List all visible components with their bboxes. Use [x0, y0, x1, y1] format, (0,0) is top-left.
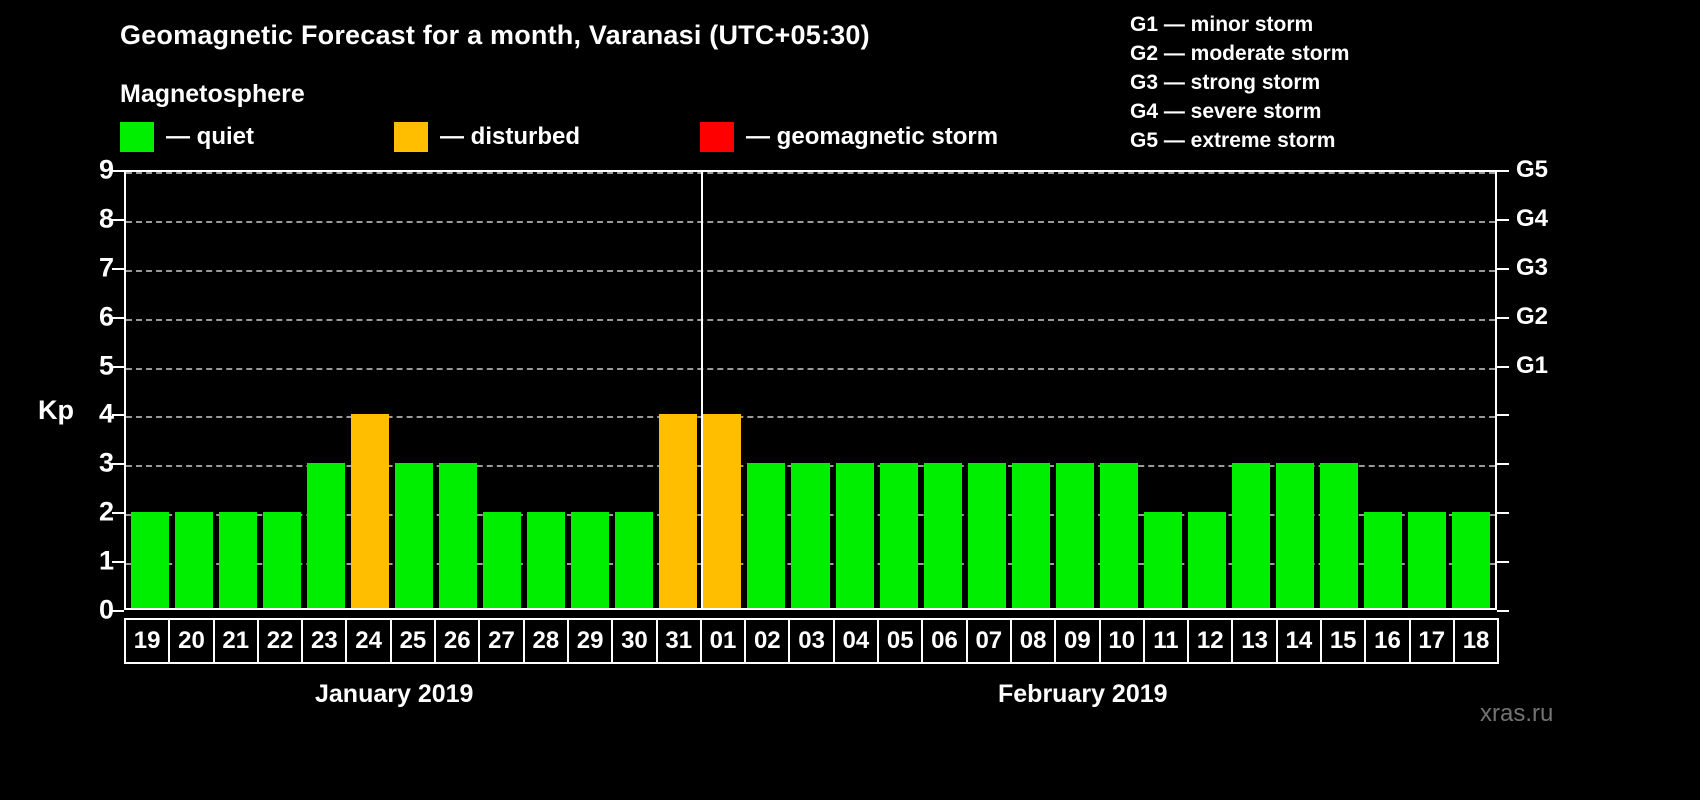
- y-tick-label-7: 7: [74, 252, 114, 283]
- bar-cell: [436, 172, 480, 608]
- bar-day-16: [1364, 512, 1402, 608]
- day-label-25: 25: [390, 618, 436, 664]
- bar-day-03: [791, 463, 829, 608]
- y-tick-label-2: 2: [74, 497, 114, 528]
- day-label-11: 11: [1143, 618, 1189, 664]
- right-axis-label-g5: G5: [1516, 156, 1548, 184]
- day-label-07: 07: [966, 618, 1012, 664]
- bar-day-30: [615, 512, 653, 608]
- y-tick-label-6: 6: [74, 301, 114, 332]
- month-label-january: January 2019: [315, 680, 473, 709]
- day-label-15: 15: [1320, 618, 1366, 664]
- bar-day-15: [1320, 463, 1358, 608]
- bar-day-28: [527, 512, 565, 608]
- bar-cell: [1405, 172, 1449, 608]
- bar-day-26: [439, 463, 477, 608]
- day-label-23: 23: [301, 618, 347, 664]
- bar-cell: [1449, 172, 1493, 608]
- bar-day-25: [395, 463, 433, 608]
- bar-cell: [877, 172, 921, 608]
- storm-scale-row-g3: G3 — strong storm: [1130, 68, 1349, 97]
- bar-cell: [172, 172, 216, 608]
- bar-cell: [1273, 172, 1317, 608]
- y-tick-label-3: 3: [74, 448, 114, 479]
- day-label-30: 30: [611, 618, 657, 664]
- day-label-16: 16: [1364, 618, 1410, 664]
- bar-cell: [348, 172, 392, 608]
- bar-day-12: [1188, 512, 1226, 608]
- y-tick-label-4: 4: [74, 399, 114, 430]
- bar-cell: [1009, 172, 1053, 608]
- day-label-18: 18: [1453, 618, 1499, 664]
- bar-cell: [788, 172, 832, 608]
- legend-label-quiet: — quiet: [166, 123, 254, 151]
- right-tick-kp-5: [1497, 366, 1509, 368]
- bar-cell: [392, 172, 436, 608]
- day-label-26: 26: [434, 618, 480, 664]
- bar-day-21: [219, 512, 257, 608]
- bar-day-23: [307, 463, 345, 608]
- bar-day-06: [924, 463, 962, 608]
- right-tick-kp-2: [1497, 512, 1509, 514]
- bar-cell: [480, 172, 524, 608]
- bar-day-01: [703, 414, 741, 608]
- day-label-12: 12: [1187, 618, 1233, 664]
- y-tick-label-8: 8: [74, 203, 114, 234]
- day-label-10: 10: [1099, 618, 1145, 664]
- bar-cell: [1229, 172, 1273, 608]
- bar-cell: [216, 172, 260, 608]
- bar-cell: [921, 172, 965, 608]
- watermark: xras.ru: [1480, 700, 1553, 728]
- bar-day-07: [968, 463, 1006, 608]
- day-label-27: 27: [478, 618, 524, 664]
- bar-day-18: [1452, 512, 1490, 608]
- day-label-22: 22: [257, 618, 303, 664]
- bar-day-19: [131, 512, 169, 608]
- bar-cell: [1097, 172, 1141, 608]
- legend-label-disturbed: — disturbed: [440, 123, 580, 151]
- legend-item-disturbed: — disturbed: [394, 122, 580, 152]
- legend-item-quiet: — quiet: [120, 122, 254, 152]
- bar-day-24: [351, 414, 389, 608]
- bar-day-05: [880, 463, 918, 608]
- magnetosphere-heading: Magnetosphere: [120, 80, 305, 109]
- day-label-05: 05: [877, 618, 923, 664]
- day-axis: 1920212223242526272829303101020304050607…: [124, 618, 1497, 664]
- bar-day-20: [175, 512, 213, 608]
- legend-swatch-disturbed: [394, 122, 428, 152]
- day-label-02: 02: [744, 618, 790, 664]
- day-label-04: 04: [833, 618, 879, 664]
- day-label-06: 06: [921, 618, 967, 664]
- day-label-09: 09: [1054, 618, 1100, 664]
- bar-cell: [1361, 172, 1405, 608]
- bar-day-04: [836, 463, 874, 608]
- day-label-29: 29: [567, 618, 613, 664]
- right-tick-kp-8: [1497, 219, 1509, 221]
- bar-cell: [260, 172, 304, 608]
- bar-day-17: [1408, 512, 1446, 608]
- day-label-21: 21: [213, 618, 259, 664]
- day-label-20: 20: [168, 618, 214, 664]
- bar-day-13: [1232, 463, 1270, 608]
- y-tick-label-1: 1: [74, 546, 114, 577]
- right-tick-kp-4: [1497, 414, 1509, 416]
- page-title: Geomagnetic Forecast for a month, Varana…: [120, 20, 870, 51]
- bar-series: [126, 172, 1495, 608]
- right-tick-kp-0: [1497, 610, 1509, 612]
- bar-day-11: [1144, 512, 1182, 608]
- day-label-28: 28: [523, 618, 569, 664]
- day-label-13: 13: [1231, 618, 1277, 664]
- chart-plot-area: [124, 170, 1497, 610]
- day-label-14: 14: [1276, 618, 1322, 664]
- bar-day-22: [263, 512, 301, 608]
- day-label-03: 03: [788, 618, 834, 664]
- right-axis-label-g4: G4: [1516, 205, 1548, 233]
- legend: — quiet— disturbed— geomagnetic storm: [120, 122, 998, 152]
- bar-day-14: [1276, 463, 1314, 608]
- legend-item-storm: — geomagnetic storm: [700, 122, 998, 152]
- day-label-01: 01: [700, 618, 746, 664]
- storm-scale-row-g4: G4 — severe storm: [1130, 97, 1349, 126]
- bar-cell: [1185, 172, 1229, 608]
- bar-day-31: [659, 414, 697, 608]
- y-tick-label-5: 5: [74, 350, 114, 381]
- storm-scale-row-g2: G2 — moderate storm: [1130, 39, 1349, 68]
- bar-day-29: [571, 512, 609, 608]
- bar-day-10: [1100, 463, 1138, 608]
- storm-scale-row-g5: G5 — extreme storm: [1130, 126, 1349, 155]
- legend-swatch-quiet: [120, 122, 154, 152]
- bar-cell: [1141, 172, 1185, 608]
- bar-cell: [700, 172, 744, 608]
- y-axis-label: Kp: [38, 395, 74, 426]
- right-tick-kp-6: [1497, 317, 1509, 319]
- right-tick-kp-7: [1497, 268, 1509, 270]
- legend-swatch-storm: [700, 122, 734, 152]
- storm-scale-legend: G1 — minor stormG2 — moderate stormG3 — …: [1130, 10, 1349, 155]
- bar-day-27: [483, 512, 521, 608]
- y-tick-label-9: 9: [74, 155, 114, 186]
- right-tick-kp-9: [1497, 170, 1509, 172]
- storm-scale-row-g1: G1 — minor storm: [1130, 10, 1349, 39]
- y-tick-label-0: 0: [74, 595, 114, 626]
- bar-cell: [1317, 172, 1361, 608]
- right-axis-label-g2: G2: [1516, 303, 1548, 331]
- bar-cell: [744, 172, 788, 608]
- right-axis-label-g1: G1: [1516, 352, 1548, 380]
- bar-day-09: [1056, 463, 1094, 608]
- bar-day-02: [747, 463, 785, 608]
- month-label-february: February 2019: [998, 680, 1168, 709]
- bar-cell: [612, 172, 656, 608]
- bar-cell: [656, 172, 700, 608]
- day-label-24: 24: [345, 618, 391, 664]
- day-label-08: 08: [1010, 618, 1056, 664]
- bar-cell: [568, 172, 612, 608]
- right-tick-kp-1: [1497, 561, 1509, 563]
- bar-cell: [524, 172, 568, 608]
- bar-cell: [833, 172, 877, 608]
- right-tick-kp-3: [1497, 463, 1509, 465]
- right-axis-label-g3: G3: [1516, 254, 1548, 282]
- day-label-17: 17: [1409, 618, 1455, 664]
- bar-cell: [965, 172, 1009, 608]
- day-label-31: 31: [656, 618, 702, 664]
- bar-cell: [128, 172, 172, 608]
- bar-day-08: [1012, 463, 1050, 608]
- bar-cell: [304, 172, 348, 608]
- legend-label-storm: — geomagnetic storm: [746, 123, 998, 151]
- bar-cell: [1053, 172, 1097, 608]
- day-label-19: 19: [124, 618, 170, 664]
